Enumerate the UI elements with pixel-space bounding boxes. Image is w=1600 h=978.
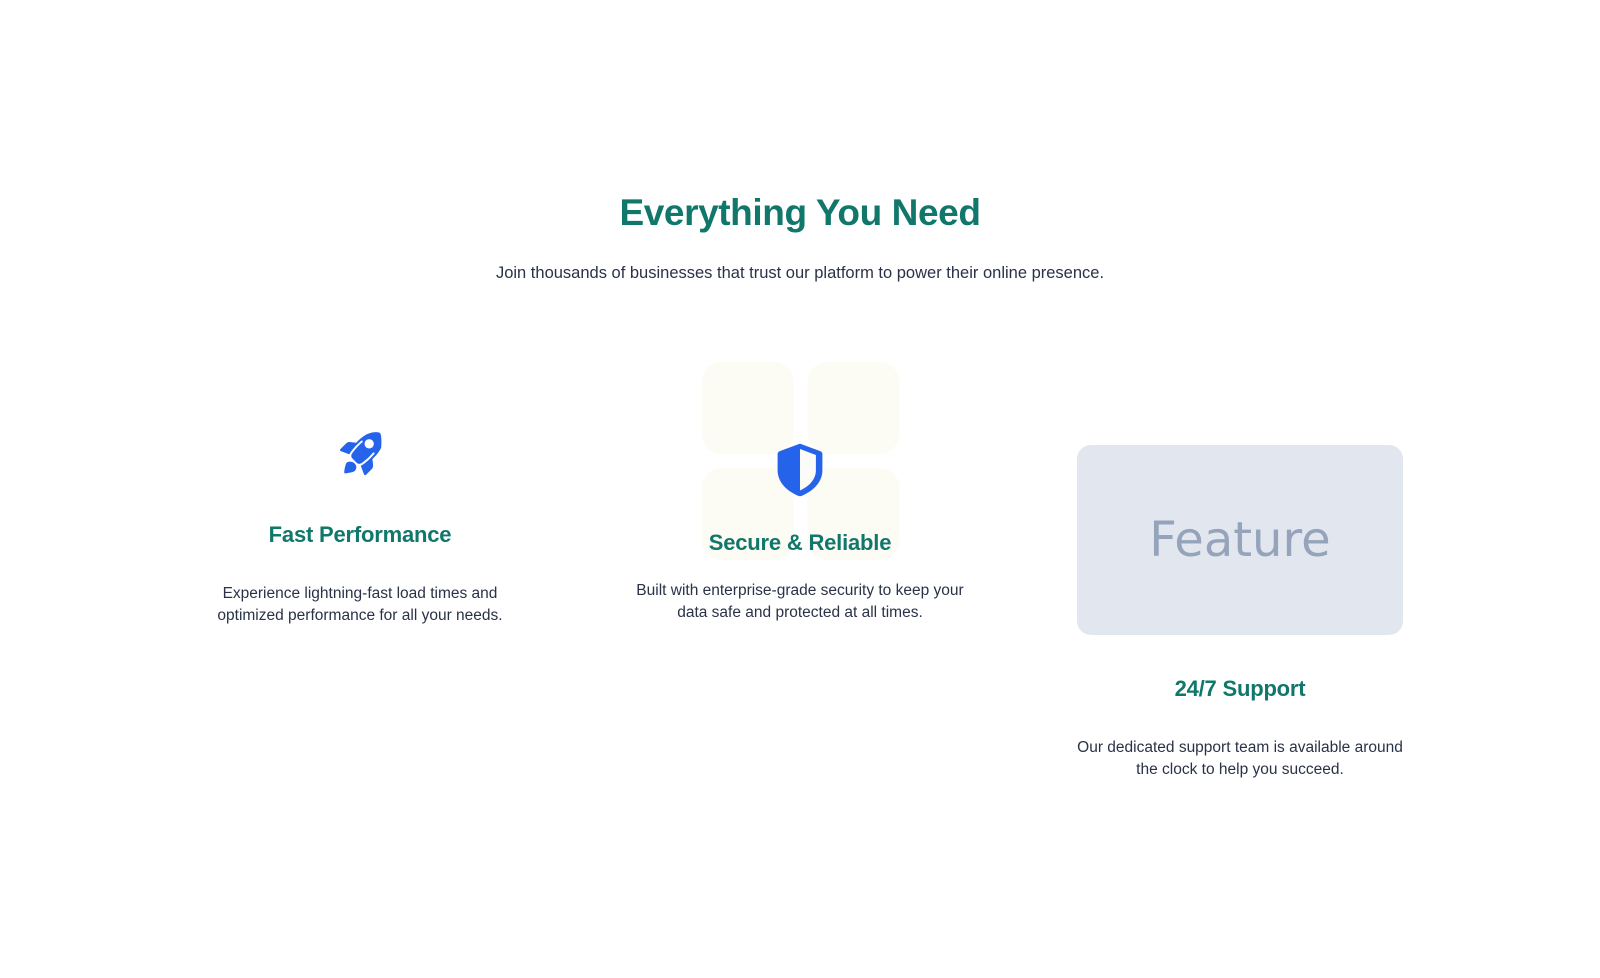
feature-card-secure-reliable: Secure & Reliable Built with enterprise-…	[600, 340, 1000, 624]
section-subtitle: Join thousands of businesses that trust …	[0, 261, 1600, 285]
page-root: Everything You Need Join thousands of bu…	[0, 0, 1600, 978]
feature-card-support: Feature 24/7 Support Our dedicated suppo…	[1040, 340, 1440, 781]
feature-title: Fast Performance	[160, 520, 560, 550]
feature-list: Fast Performance Experience lightning-fa…	[160, 340, 1440, 781]
feature-card-fast-performance: Fast Performance Experience lightning-fa…	[160, 340, 560, 627]
feature-title: 24/7 Support	[1040, 674, 1440, 704]
rocket-icon	[160, 424, 560, 482]
placeholder-label: Feature	[1149, 512, 1330, 568]
section-header: Everything You Need Join thousands of bu…	[0, 190, 1600, 285]
feature-description: Experience lightning-fast load times and…	[195, 583, 525, 627]
shield-icon	[600, 441, 1000, 499]
feature-description: Our dedicated support team is available …	[1068, 737, 1413, 781]
feature-placeholder-image: Feature	[1077, 445, 1403, 635]
feature-description: Built with enterprise-grade security to …	[630, 580, 970, 624]
page-title: Everything You Need	[0, 190, 1600, 236]
feature-title: Secure & Reliable	[600, 528, 1000, 558]
